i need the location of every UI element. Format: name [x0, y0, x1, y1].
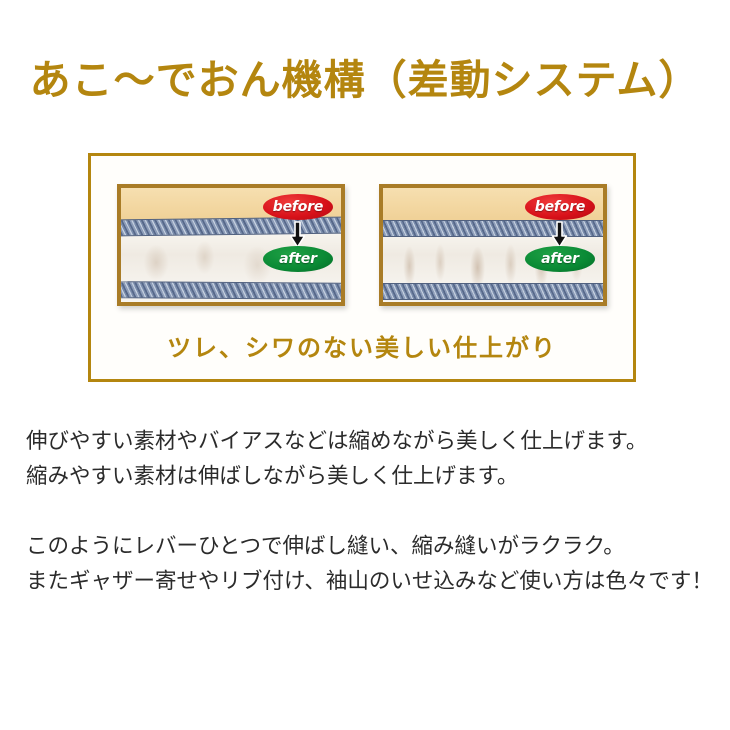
paragraph-1-line-2: 縮みやすい素材は伸ばしながら美しく仕上げます。: [26, 459, 716, 494]
paragraph-1-line-1: 伸びやすい素材やバイアスなどは縮めながら美しく仕上げます。: [26, 424, 716, 459]
badge-before: before: [263, 194, 333, 220]
paragraph-2: このようにレバーひとつで伸ばし縫い、縮み縫いがラクラク。 またギャザー寄せやリブ…: [26, 529, 716, 599]
body-copy: 伸びやすい素材やバイアスなどは縮めながら美しく仕上げます。 縮みやすい素材は伸ば…: [26, 424, 716, 599]
overlock-stitch-band-upper: [383, 220, 603, 237]
badge-before: before: [525, 194, 595, 220]
showcase-caption: ツレ、シワのない美しい仕上がり: [91, 328, 633, 363]
photo-panel-gathered: before after: [379, 184, 607, 306]
badge-after: after: [263, 246, 333, 272]
arrow-down-icon: [551, 221, 568, 249]
arrow-down-icon: [289, 221, 306, 249]
paragraph-1: 伸びやすい素材やバイアスなどは縮めながら美しく仕上げます。 縮みやすい素材は伸ば…: [26, 424, 716, 494]
page-title: あこ〜でおん機構（差動システム）: [0, 58, 730, 103]
photo-panel-wavy: before after: [117, 184, 345, 306]
photo-panel-row: before after before after: [91, 184, 633, 306]
paragraph-spacer: [26, 494, 716, 529]
paragraph-2-line-2: またギャザー寄せやリブ付け、袖山のいせ込みなど使い方は色々です！: [26, 564, 716, 599]
paragraph-2-line-1: このようにレバーひとつで伸ばし縫い、縮み縫いがラクラク。: [26, 529, 716, 564]
overlock-stitch-band-upper: [117, 217, 345, 237]
showcase-box: before after before after ツレ、シワのない美しい仕上が…: [88, 153, 636, 382]
overlock-stitch-band-lower: [383, 283, 603, 300]
overlock-stitch-band-lower: [117, 281, 345, 300]
badge-after: after: [525, 246, 595, 272]
